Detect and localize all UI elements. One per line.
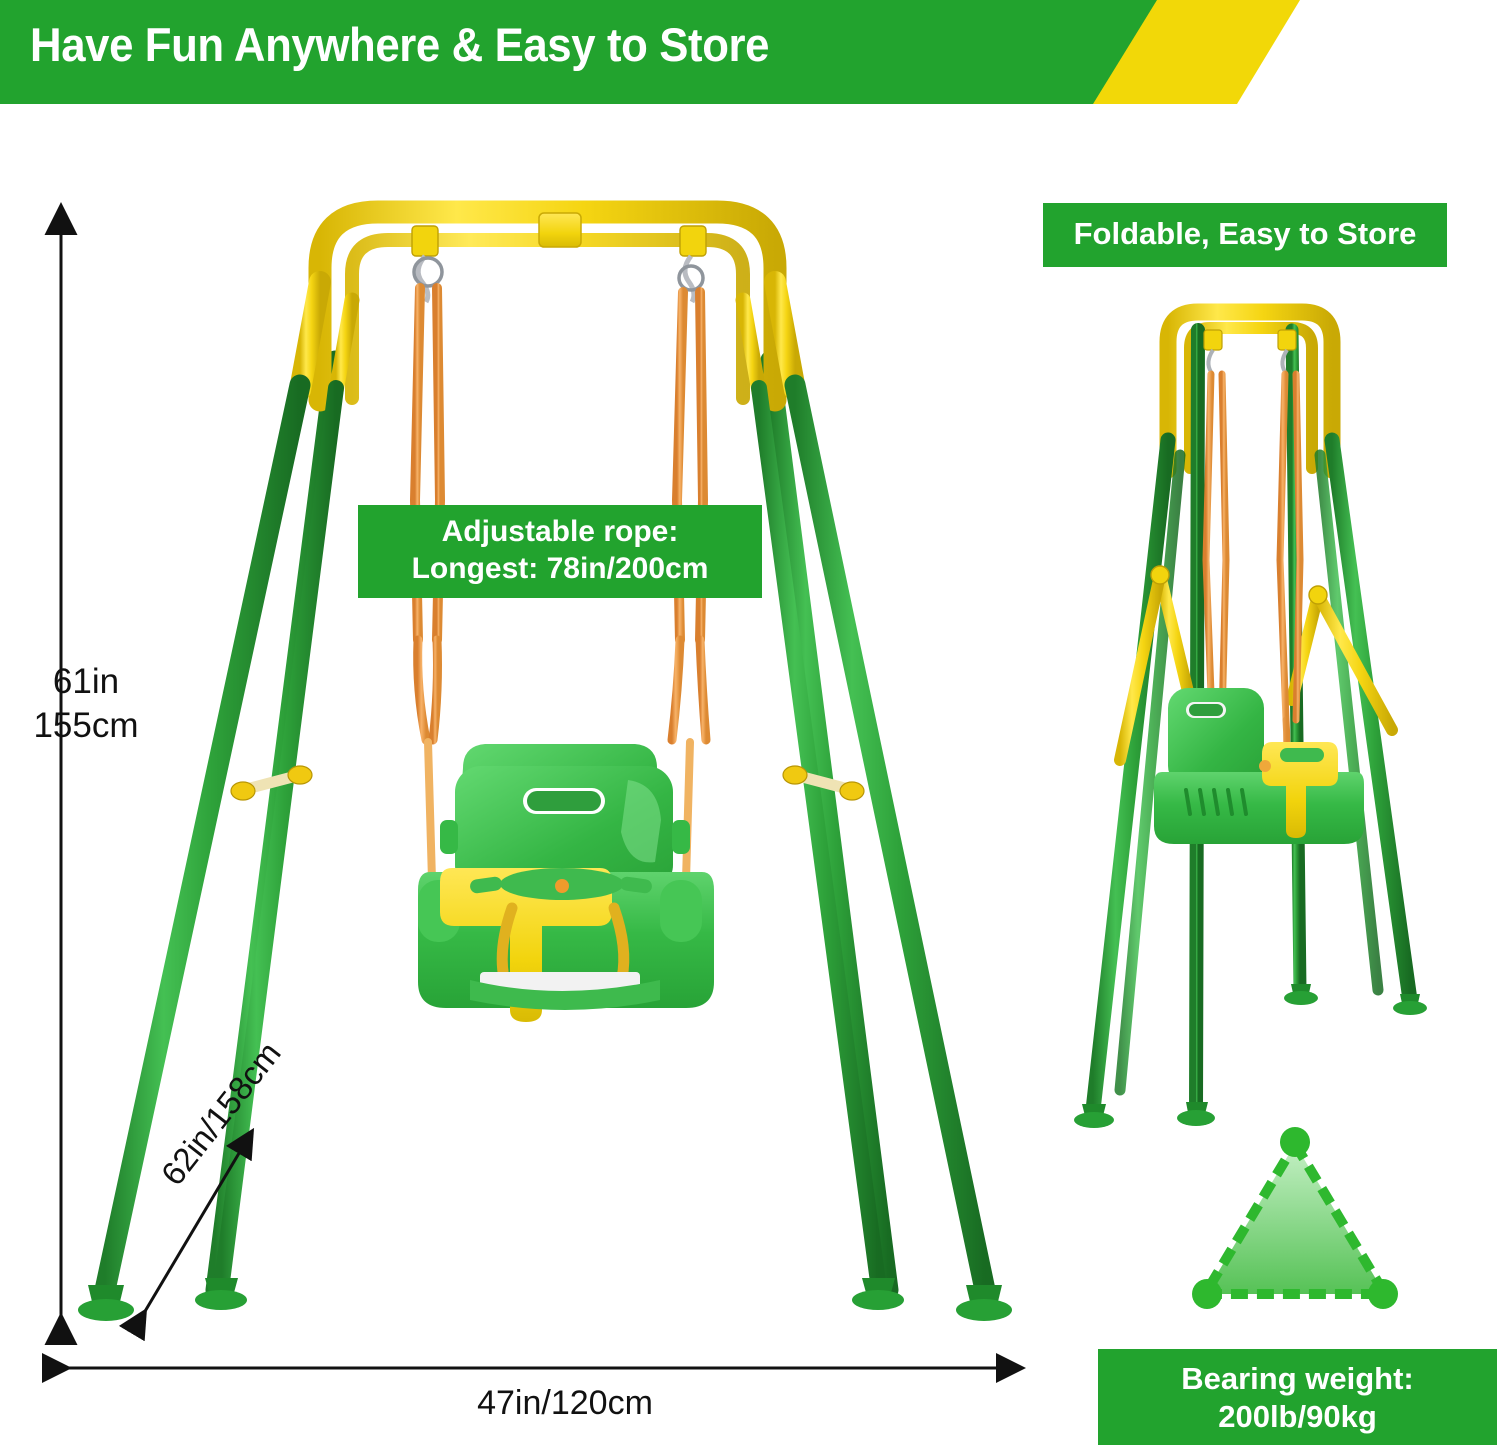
frame-top-bar (320, 212, 775, 400)
foot-caps (78, 1278, 1012, 1321)
swing-set-open (78, 212, 1012, 1321)
triangle-vertex-right (1368, 1279, 1398, 1309)
foldable-label: Foldable, Easy to Store (1043, 203, 1447, 267)
stability-triangle-icon (1185, 1122, 1405, 1317)
swing-set-folded (1074, 312, 1427, 1128)
center-bracket (539, 213, 581, 247)
product-infographic: Have Fun Anywhere & Easy to Store (0, 0, 1500, 1445)
folded-swing-seat (1154, 688, 1364, 844)
triangle-vertex-left (1192, 1279, 1222, 1309)
width-dimension-label: 47in/120cm (420, 1382, 710, 1425)
triangle-vertex-top (1280, 1127, 1310, 1157)
adjustable-rope-label: Adjustable rope: Longest: 78in/200cm (358, 505, 762, 598)
height-dimension-label: 61in 155cm (16, 660, 156, 748)
frame-upper-legs-yellow (300, 282, 795, 392)
baby-swing-seat (418, 744, 714, 1022)
bearing-weight-label: Bearing weight: 200lb/90kg (1098, 1349, 1497, 1445)
